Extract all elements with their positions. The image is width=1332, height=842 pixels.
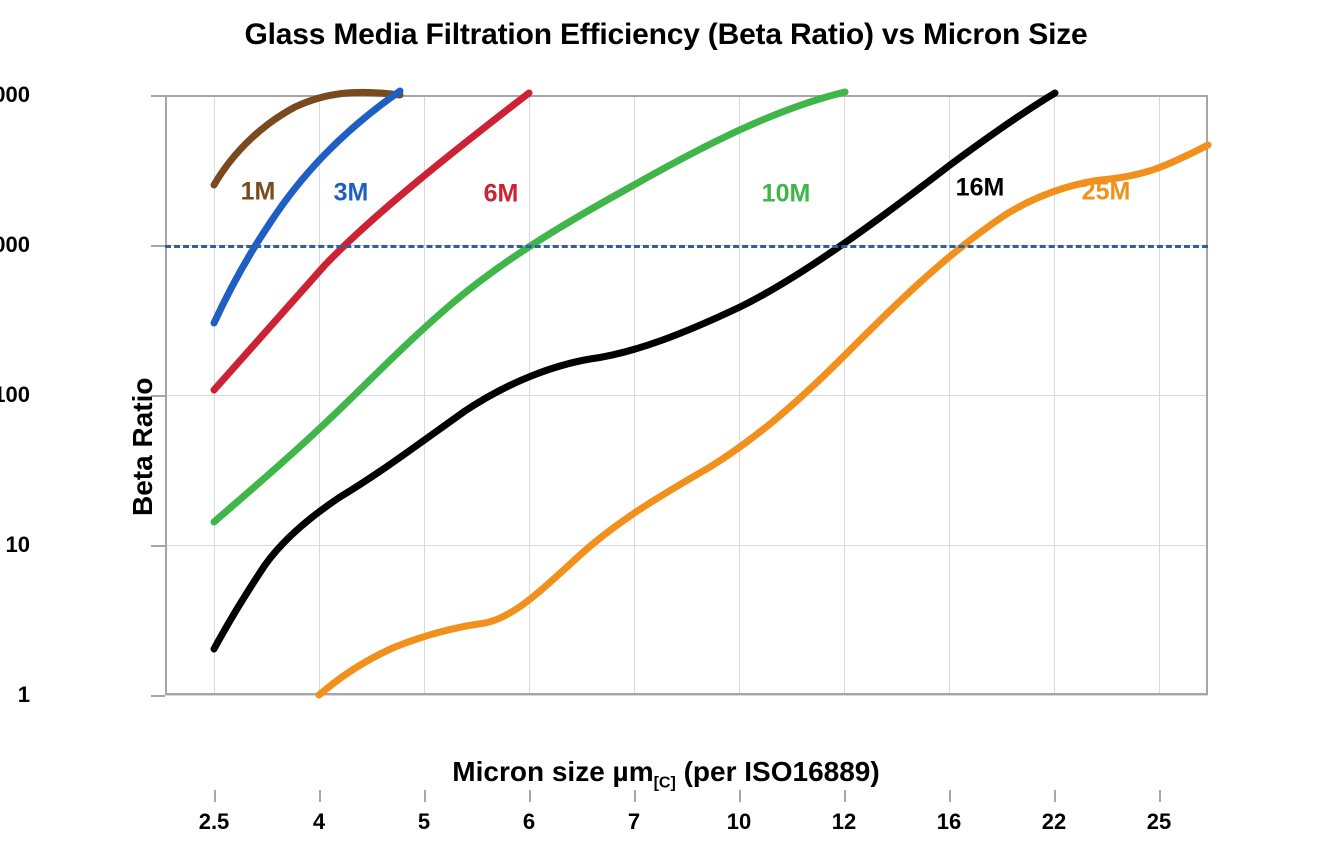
series-label-3M: 3M [334,179,369,208]
ytick-mark-10 [151,545,165,547]
xtick-label-12: 12 [784,809,904,835]
series-label-6M: 6M [484,180,519,209]
xtick-label-25: 25 [1099,809,1219,835]
xtick-label-5: 5 [364,809,484,835]
series-label-25M: 25M [1082,178,1131,207]
xtick-label-2-5: 2.5 [154,809,274,835]
xtick-label-7: 7 [574,809,694,835]
series-label-16M: 16M [956,174,1005,203]
x-axis-title-suffix: (per ISO16889) [676,756,880,787]
x-axis-title-subscript: [C] [654,775,676,792]
xtick-label-4: 4 [259,809,379,835]
x-axis-title: Micron size µm[C] (per ISO16889) [0,756,1332,793]
ytick-label-100: 100 [0,382,30,408]
ytick-mark-1 [151,695,165,697]
series-curve-10M [214,92,845,522]
x-axis-title-main: Micron size µm [452,756,653,787]
ytick-mark-1000 [151,245,165,247]
y-axis-title: Beta Ratio [127,378,159,516]
chart-page: Glass Media Filtration Efficiency (Beta … [0,0,1332,842]
series-curves [165,95,1208,695]
chart-title: Glass Media Filtration Efficiency (Beta … [0,18,1332,52]
ytick-mark-10000 [151,95,165,97]
series-label-1M: 1M [241,178,276,207]
series-curve-16M [214,93,1055,649]
series-label-10M: 10M [762,180,811,209]
reference-line-1000 [165,245,1208,248]
xtick-label-6: 6 [469,809,589,835]
plot-area: 1M 3M 6M 10M 16M 25M 10,000 1,000 100 10… [165,95,1208,695]
xtick-label-16: 16 [889,809,1009,835]
xtick-label-10: 10 [679,809,799,835]
ytick-label-1: 1 [0,682,30,708]
ytick-label-10: 10 [0,532,30,558]
ytick-label-10000: 10,000 [0,82,30,108]
xtick-label-22: 22 [994,809,1114,835]
ytick-label-1000: 1,000 [0,232,30,258]
